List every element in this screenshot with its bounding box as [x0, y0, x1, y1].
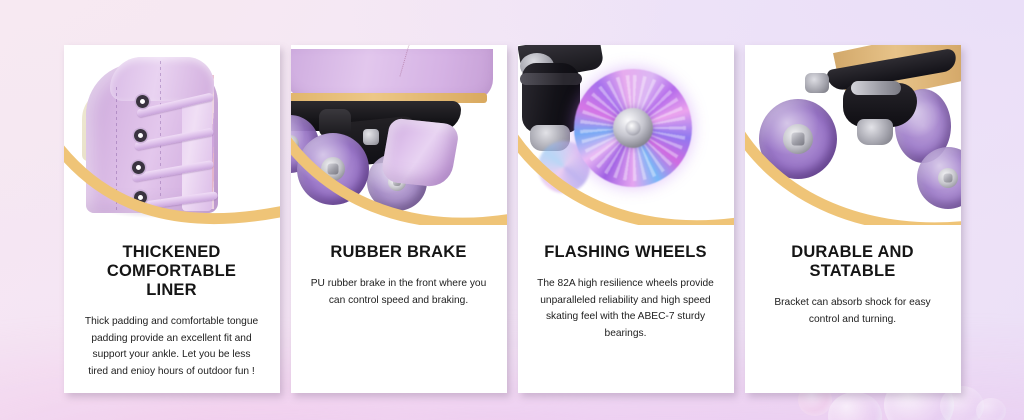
card-description: The 82A high resilience wheels provide u… — [534, 276, 718, 342]
bushing-washer — [851, 81, 901, 95]
card-text-block: RUBBER BRAKE PU rubber brake in the fron… — [291, 225, 507, 309]
wheel-hub — [783, 124, 813, 154]
product-photo-brake — [291, 45, 507, 225]
mounting-bolt — [363, 129, 379, 145]
feature-card-list: THICKENED COMFORTABLE LINER Thick paddin… — [0, 0, 1024, 420]
boot-eyelet — [136, 95, 149, 108]
feature-showcase-banner: THICKENED COMFORTABLE LINER Thick paddin… — [0, 0, 1024, 420]
boot-eyelet — [132, 161, 145, 174]
product-photo-bracket — [745, 45, 961, 225]
boot-eyelet — [134, 191, 147, 204]
boot-eyelet — [134, 129, 147, 142]
axle-nut — [791, 133, 804, 146]
boot-stitch-seam — [160, 61, 162, 211]
kingpin-nut — [857, 119, 893, 145]
card-title: FLASHING WHEELS — [534, 243, 718, 262]
card-text-block: FLASHING WHEELS The 82A high resilience … — [518, 225, 734, 342]
card-title: DURABLE AND STATABLE — [761, 243, 945, 281]
card-description: PU rubber brake in the front where you c… — [307, 276, 491, 309]
glitter-wheel — [759, 99, 837, 179]
wheel-hub — [321, 157, 345, 181]
card-title: RUBBER BRAKE — [307, 243, 491, 262]
card-text-block: DURABLE AND STATABLE Bracket can absorb … — [745, 225, 961, 328]
feature-card-brake: RUBBER BRAKE PU rubber brake in the fron… — [291, 45, 507, 393]
wheel-hub — [291, 135, 299, 153]
wheel-hub — [938, 168, 958, 188]
truck-ring — [520, 73, 582, 85]
product-photo-boot — [64, 45, 280, 225]
pivot-bolt — [805, 73, 829, 93]
led-flashing-wheel — [574, 69, 692, 187]
axle-nut — [291, 140, 294, 148]
product-photo-flashing-wheel — [518, 45, 734, 225]
card-description: Bracket can absorb shock for easy contro… — [761, 295, 945, 328]
axle-nut — [943, 174, 952, 183]
feature-card-bracket: DURABLE AND STATABLE Bracket can absorb … — [745, 45, 961, 393]
feature-card-liner: THICKENED COMFORTABLE LINER Thick paddin… — [64, 45, 280, 393]
card-description: Thick padding and comfortable tongue pad… — [80, 314, 264, 380]
boot-stitch-seam — [116, 87, 118, 211]
card-title: THICKENED COMFORTABLE LINER — [80, 243, 264, 300]
wheel-bearing-hub — [613, 108, 653, 148]
card-text-block: THICKENED COMFORTABLE LINER Thick paddin… — [64, 225, 280, 380]
rubber-toe-stop — [379, 118, 460, 188]
glitter-wheel — [297, 133, 369, 205]
feature-card-wheels: FLASHING WHEELS The 82A high resilience … — [518, 45, 734, 393]
axle-nut — [327, 164, 338, 175]
